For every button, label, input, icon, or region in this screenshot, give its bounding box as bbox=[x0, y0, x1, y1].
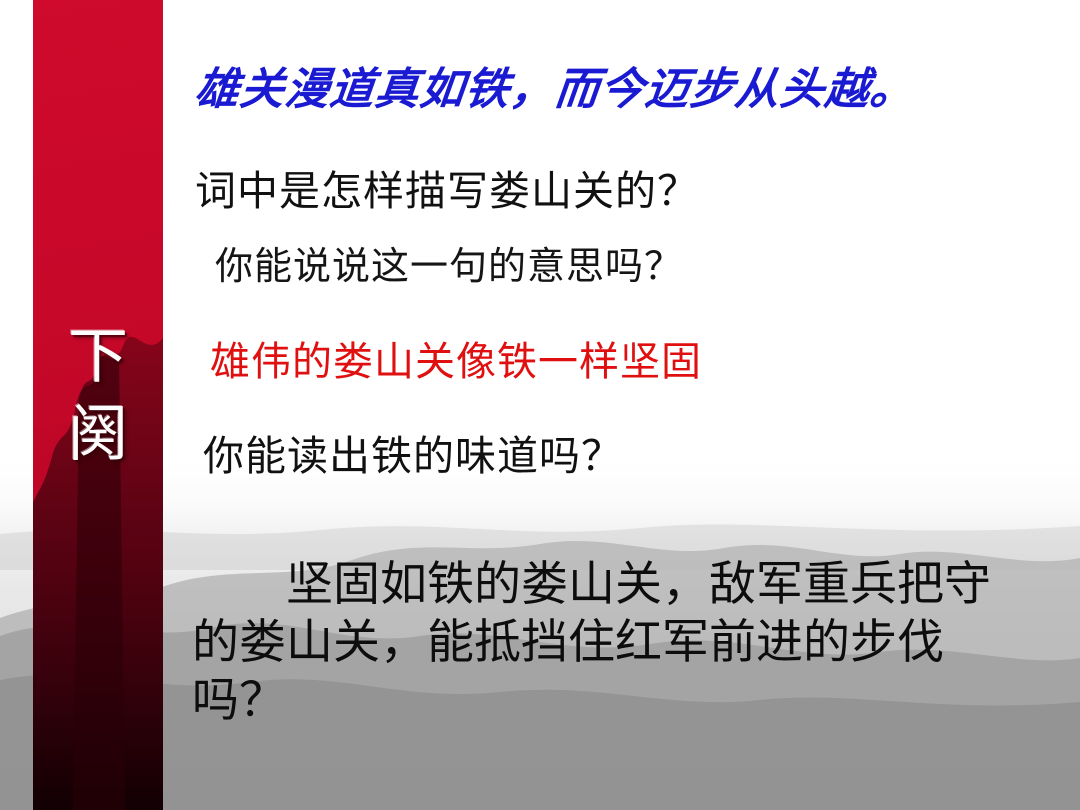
question-one: 词中是怎样描写娄山关的？ bbox=[195, 166, 699, 216]
banner-vertical-title: 下 阕 bbox=[33, 318, 163, 474]
banner-char-2: 阕 bbox=[33, 396, 163, 474]
question-three: 你能读出铁的味道吗？ bbox=[203, 430, 623, 482]
banner-char-1: 下 bbox=[33, 318, 163, 396]
poem-title-line: 雄关漫道真如铁，而今迈步从头越。 bbox=[192, 62, 1068, 118]
left-red-banner: 下 阕 bbox=[33, 0, 163, 810]
closing-paragraph: 坚固如铁的娄山关，敌军重兵把守的娄山关，能抵挡住红军前进的步伐吗？ bbox=[192, 556, 1007, 730]
slide-canvas: 下 阕 雄关漫道真如铁，而今迈步从头越。 词中是怎样描写娄山关的？ 你能说说这一… bbox=[0, 0, 1080, 810]
answer-highlight: 雄伟的娄山关像铁一样坚固 bbox=[210, 337, 702, 387]
question-two: 你能说说这一句的意思吗？ bbox=[215, 243, 683, 291]
